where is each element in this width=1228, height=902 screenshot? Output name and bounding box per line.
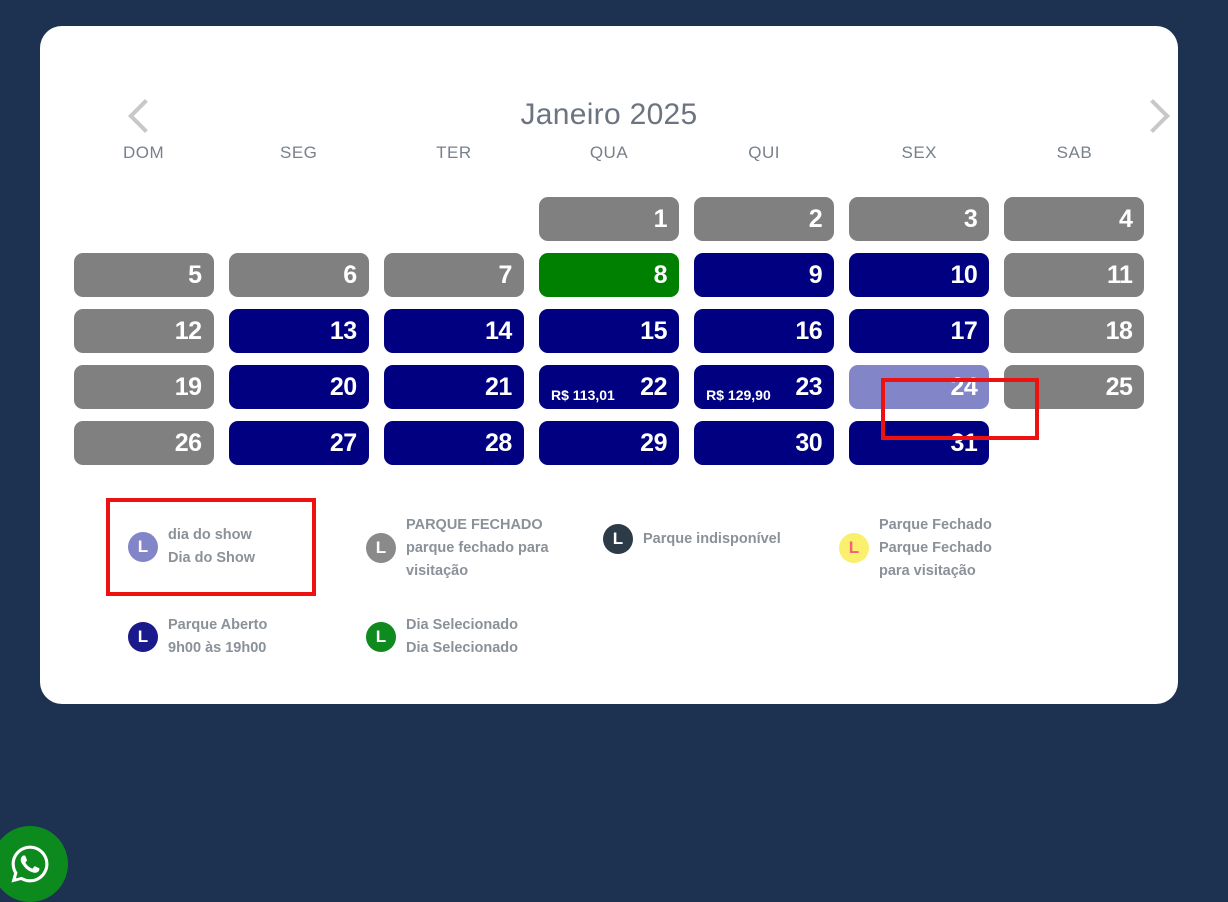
day-slot: 8 [531, 247, 686, 303]
day-slot: 15 [531, 303, 686, 359]
day-cell-24[interactable]: 24 [849, 365, 989, 409]
day-number: 14 [485, 319, 512, 344]
legend-item-parque-fechado[interactable]: L PARQUE FECHADO parque fechado para vis… [366, 514, 566, 583]
day-cell-18[interactable]: 18 [1004, 309, 1144, 353]
weekday-label-seg: SEG [221, 143, 376, 163]
day-cell-30[interactable]: 30 [694, 421, 834, 465]
day-cell-19[interactable]: 19 [74, 365, 214, 409]
day-cell-1[interactable]: 1 [539, 197, 679, 241]
day-number: 28 [485, 431, 512, 456]
day-number: 24 [950, 375, 977, 400]
day-slot: 2 [687, 191, 842, 247]
day-number: 29 [640, 431, 667, 456]
day-cell-20[interactable]: 20 [229, 365, 369, 409]
legend-item-parque-aberto[interactable]: L Parque Aberto 9h00 às 19h00 [128, 614, 338, 660]
day-slot: 21 [376, 359, 531, 415]
day-slot: 29 [531, 415, 686, 471]
page-title: Janeiro 2025 [40, 98, 1178, 132]
legend-item-label: Parque Aberto 9h00 às 19h00 [168, 614, 267, 660]
day-cell-9[interactable]: 9 [694, 253, 834, 297]
day-slot: 17 [842, 303, 997, 359]
day-cell-27[interactable]: 27 [229, 421, 369, 465]
day-number: 11 [1107, 263, 1132, 288]
day-slot: R$ 129,9023 [687, 359, 842, 415]
calendar-card: Janeiro 2025 DOMSEGTERQUAQUISEXSAB 12345… [40, 26, 1178, 704]
day-cell-25[interactable]: 25 [1004, 365, 1144, 409]
day-slot: 1 [531, 191, 686, 247]
day-slot: R$ 113,0122 [531, 359, 686, 415]
legend-badge-icon: L [128, 622, 158, 652]
day-cell-3[interactable]: 3 [849, 197, 989, 241]
day-grid: 123456789101112131415161718192021R$ 113,… [66, 191, 1152, 471]
weekday-label-sex: SEX [842, 143, 997, 163]
day-number: 20 [330, 375, 357, 400]
day-cell-4[interactable]: 4 [1004, 197, 1144, 241]
day-slot: 3 [842, 191, 997, 247]
day-cell-13[interactable]: 13 [229, 309, 369, 353]
day-cell-16[interactable]: 16 [694, 309, 834, 353]
day-number: 26 [175, 431, 202, 456]
calendar-header: Janeiro 2025 [40, 26, 1178, 156]
day-number: 22 [640, 375, 667, 400]
legend: L dia do show Dia do Show L PARQUE FECHA… [40, 474, 1178, 674]
day-cell-15[interactable]: 15 [539, 309, 679, 353]
legend-item-label: PARQUE FECHADO parque fechado para visit… [406, 514, 549, 583]
day-slot: 19 [66, 359, 221, 415]
day-price: R$ 129,90 [706, 387, 771, 403]
day-cell-12[interactable]: 12 [74, 309, 214, 353]
day-cell-10[interactable]: 10 [849, 253, 989, 297]
weekday-label-ter: TER [376, 143, 531, 163]
legend-item-label: Parque indisponível [643, 528, 781, 551]
legend-badge-icon: L [603, 524, 633, 554]
weekday-label-qua: QUA [531, 143, 686, 163]
day-number: 7 [498, 263, 511, 288]
day-slot: 10 [842, 247, 997, 303]
day-cell-31[interactable]: 31 [849, 421, 989, 465]
day-slot: 18 [997, 303, 1152, 359]
day-cell-26[interactable]: 26 [74, 421, 214, 465]
day-number: 19 [175, 375, 202, 400]
day-cell-21[interactable]: 21 [384, 365, 524, 409]
day-number: 17 [950, 319, 977, 344]
day-slot: 24 [842, 359, 997, 415]
day-slot: 30 [687, 415, 842, 471]
legend-badge-icon: L [366, 622, 396, 652]
day-number: 3 [964, 207, 977, 232]
day-slot: 7 [376, 247, 531, 303]
legend-item-label: dia do show Dia do Show [168, 524, 255, 570]
day-slot: 12 [66, 303, 221, 359]
chevron-right-icon [1136, 99, 1170, 133]
day-cell-22[interactable]: R$ 113,0122 [539, 365, 679, 409]
day-number: 27 [330, 431, 357, 456]
day-slot: 28 [376, 415, 531, 471]
day-cell-8[interactable]: 8 [539, 253, 679, 297]
day-number: 9 [809, 263, 822, 288]
day-number: 16 [795, 319, 822, 344]
page-root: Janeiro 2025 DOMSEGTERQUAQUISEXSAB 12345… [0, 0, 1228, 902]
day-number: 4 [1119, 207, 1132, 232]
day-number: 21 [485, 375, 512, 400]
weekday-label-qui: QUI [687, 143, 842, 163]
day-slot: 31 [842, 415, 997, 471]
day-slot: 16 [687, 303, 842, 359]
whatsapp-button[interactable] [0, 826, 68, 902]
legend-item-parque-fechado-amarelo[interactable]: L Parque Fechado Parque Fechado para vis… [839, 514, 1069, 583]
day-cell-23[interactable]: R$ 129,9023 [694, 365, 834, 409]
day-slot: 20 [221, 359, 376, 415]
day-slot: 11 [997, 247, 1152, 303]
day-number: 13 [330, 319, 357, 344]
day-number: 2 [809, 207, 822, 232]
day-slot-empty [376, 191, 531, 247]
next-month-button[interactable] [1132, 92, 1180, 140]
day-slot: 4 [997, 191, 1152, 247]
legend-badge-icon: L [839, 533, 869, 563]
day-cell-5[interactable]: 5 [74, 253, 214, 297]
legend-item-dia-do-show[interactable]: L dia do show Dia do Show [128, 524, 338, 570]
weekday-header-row: DOMSEGTERQUAQUISEXSAB [66, 143, 1152, 163]
day-cell-7[interactable]: 7 [384, 253, 524, 297]
day-slot-empty [66, 191, 221, 247]
weekday-label-dom: DOM [66, 143, 221, 163]
day-cell-14[interactable]: 14 [384, 309, 524, 353]
legend-item-label: Dia Selecionado Dia Selecionado [406, 614, 518, 660]
day-number: 6 [343, 263, 356, 288]
day-number: 30 [795, 431, 822, 456]
day-cell-17[interactable]: 17 [849, 309, 989, 353]
day-slot-empty [221, 191, 376, 247]
day-number: 5 [188, 263, 201, 288]
day-number: 18 [1106, 319, 1133, 344]
day-slot: 13 [221, 303, 376, 359]
day-price: R$ 113,01 [551, 387, 615, 403]
weekday-label-sab: SAB [997, 143, 1152, 163]
legend-item-label: Parque Fechado Parque Fechado para visit… [879, 514, 992, 583]
day-slot: 27 [221, 415, 376, 471]
day-cell-11[interactable]: 11 [1004, 253, 1144, 297]
day-number: 23 [795, 375, 822, 400]
day-cell-28[interactable]: 28 [384, 421, 524, 465]
day-slot: 9 [687, 247, 842, 303]
day-number: 10 [950, 263, 977, 288]
day-slot: 26 [66, 415, 221, 471]
legend-badge-icon: L [128, 532, 158, 562]
day-cell-2[interactable]: 2 [694, 197, 834, 241]
whatsapp-icon [7, 841, 53, 887]
day-number: 25 [1106, 375, 1133, 400]
day-cell-6[interactable]: 6 [229, 253, 369, 297]
day-number: 15 [640, 319, 667, 344]
legend-badge-icon: L [366, 533, 396, 563]
day-slot: 5 [66, 247, 221, 303]
day-cell-29[interactable]: 29 [539, 421, 679, 465]
day-number: 8 [654, 263, 667, 288]
day-slot: 25 [997, 359, 1152, 415]
day-slot: 14 [376, 303, 531, 359]
day-number: 1 [654, 207, 667, 232]
legend-item-dia-selecionado[interactable]: L Dia Selecionado Dia Selecionado [366, 614, 576, 660]
day-number: 31 [950, 431, 977, 456]
legend-item-parque-indisponivel[interactable]: L Parque indisponível [603, 524, 833, 554]
day-slot: 6 [221, 247, 376, 303]
day-number: 12 [175, 319, 202, 344]
